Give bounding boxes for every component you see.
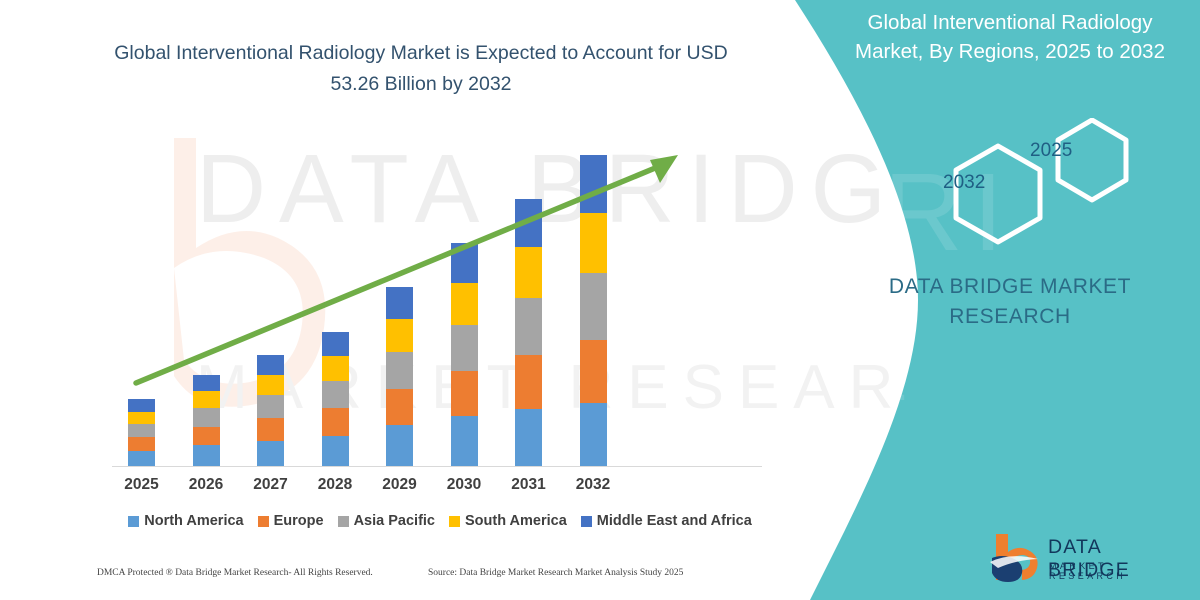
data-bridge-logo: DATA BRIDGE MARKET RESEARCH xyxy=(988,530,1188,586)
legend-item-north-america[interactable]: North America xyxy=(128,513,243,529)
x-axis-line xyxy=(112,466,762,467)
bar-segment-asia-pacific xyxy=(451,325,478,371)
bar-segment-north-america xyxy=(322,436,349,466)
bar-segment-middle-east-and-africa xyxy=(322,332,349,356)
bar-chart: 20252026202720282029203020312032 xyxy=(0,0,790,520)
bar-segment-middle-east-and-africa xyxy=(386,287,413,319)
bar-2032 xyxy=(580,155,607,466)
chart-legend: North AmericaEuropeAsia PacificSouth Ame… xyxy=(110,513,770,529)
bar-segment-asia-pacific xyxy=(193,408,220,426)
bar-segment-north-america xyxy=(193,445,220,466)
legend-label: Middle East and Africa xyxy=(597,513,752,529)
hexagon-start-year-label: 2025 xyxy=(1030,140,1072,162)
bar-segment-north-america xyxy=(257,441,284,466)
bar-segment-europe xyxy=(128,437,155,451)
logo-tagline: MARKET RESEARCH xyxy=(1049,561,1188,581)
legend-swatch-icon xyxy=(128,516,139,527)
legend-swatch-icon xyxy=(581,516,592,527)
bar-segment-europe xyxy=(322,408,349,436)
x-axis-label-2027: 2027 xyxy=(239,476,303,494)
footer: DMCA Protected ® Data Bridge Market Rese… xyxy=(0,568,790,588)
panel-title: Global Interventional Radiology Market, … xyxy=(835,8,1185,66)
bar-segment-asia-pacific xyxy=(257,395,284,417)
bar-segment-europe xyxy=(451,371,478,416)
x-axis-label-2032: 2032 xyxy=(561,476,625,494)
svg-text:RE: RE xyxy=(800,337,917,415)
bar-2030 xyxy=(451,243,478,466)
bar-segment-south-america xyxy=(451,283,478,325)
bar-segment-south-america xyxy=(193,391,220,408)
x-axis-label-2031: 2031 xyxy=(497,476,561,494)
bar-segment-asia-pacific xyxy=(322,381,349,408)
bar-2028 xyxy=(322,332,349,466)
bar-segment-middle-east-and-africa xyxy=(515,199,542,247)
bar-segment-europe xyxy=(193,427,220,446)
legend-label: North America xyxy=(144,513,243,529)
bar-segment-south-america xyxy=(580,213,607,273)
legend-label: Europe xyxy=(274,513,324,529)
bar-segment-middle-east-and-africa xyxy=(128,399,155,412)
bar-segment-asia-pacific xyxy=(386,352,413,388)
legend-label: Asia Pacific xyxy=(354,513,435,529)
bar-segment-south-america xyxy=(322,356,349,381)
x-axis-label-2029: 2029 xyxy=(368,476,432,494)
infographic-root: DATA BRIDGE MARKET RESEARCH Global Inter… xyxy=(0,0,1200,600)
bar-2025 xyxy=(128,399,155,466)
x-axis-label-2030: 2030 xyxy=(432,476,496,494)
legend-swatch-icon xyxy=(338,516,349,527)
bar-segment-asia-pacific xyxy=(515,298,542,354)
bar-segment-north-america xyxy=(128,451,155,466)
legend-swatch-icon xyxy=(258,516,269,527)
bar-segment-asia-pacific xyxy=(128,424,155,437)
bar-segment-middle-east-and-africa xyxy=(193,375,220,391)
bar-2027 xyxy=(257,355,284,466)
bar-2029 xyxy=(386,287,413,466)
bar-segment-south-america xyxy=(386,319,413,353)
bar-segment-asia-pacific xyxy=(580,273,607,340)
bar-segment-south-america xyxy=(515,247,542,298)
bar-segment-south-america xyxy=(257,375,284,396)
x-axis-label-2026: 2026 xyxy=(174,476,238,494)
legend-item-middle-east-and-africa[interactable]: Middle East and Africa xyxy=(581,513,752,529)
bar-segment-middle-east-and-africa xyxy=(580,155,607,213)
bar-segment-europe xyxy=(580,340,607,403)
bar-segment-north-america xyxy=(580,403,607,466)
bar-segment-middle-east-and-africa xyxy=(257,355,284,375)
bar-2026 xyxy=(193,375,220,466)
legend-item-europe[interactable]: Europe xyxy=(258,513,324,529)
bar-segment-middle-east-and-africa xyxy=(451,243,478,283)
hexagon-badges: 2032 2025 xyxy=(900,118,1190,248)
hexagon-end-year-label: 2032 xyxy=(943,172,985,194)
legend-swatch-icon xyxy=(449,516,460,527)
bar-segment-north-america xyxy=(515,409,542,466)
bar-segment-europe xyxy=(386,389,413,426)
x-axis-label-2025: 2025 xyxy=(110,476,174,494)
footer-dmca-notice: DMCA Protected ® Data Bridge Market Rese… xyxy=(97,568,373,578)
legend-item-south-america[interactable]: South America xyxy=(449,513,567,529)
x-axis-label-2028: 2028 xyxy=(303,476,367,494)
legend-item-asia-pacific[interactable]: Asia Pacific xyxy=(338,513,435,529)
panel-brand-name: DATA BRIDGE MARKET RESEARCH xyxy=(835,272,1185,332)
legend-label: South America xyxy=(465,513,567,529)
footer-source-note: Source: Data Bridge Market Research Mark… xyxy=(428,568,683,578)
bar-segment-north-america xyxy=(386,425,413,466)
bar-segment-south-america xyxy=(128,412,155,425)
bar-segment-europe xyxy=(257,418,284,441)
bar-segment-north-america xyxy=(451,416,478,466)
right-teal-panel: BRI RE Global Interventional Radiology M… xyxy=(780,0,1200,600)
bar-segment-europe xyxy=(515,355,542,410)
bar-2031 xyxy=(515,199,542,466)
